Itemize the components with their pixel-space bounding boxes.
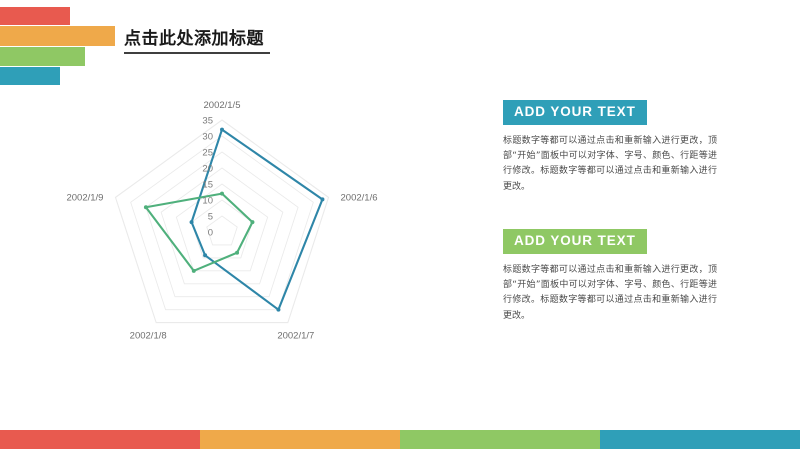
bottom-segment-orange: [200, 430, 400, 449]
svg-text:15: 15: [202, 180, 213, 191]
bottom-decoration: [0, 430, 800, 449]
panel-1-header: ADD YOUR TEXT: [503, 100, 647, 125]
bottom-segment-green: [400, 430, 600, 449]
svg-text:0: 0: [208, 228, 213, 239]
svg-text:20: 20: [202, 164, 213, 175]
text-panel-1: ADD YOUR TEXT 标题数字等都可以通过点击和重新输入进行更改，顶部“开…: [503, 100, 733, 195]
text-panel-2: ADD YOUR TEXT 标题数字等都可以通过点击和重新输入进行更改，顶部“开…: [503, 229, 733, 324]
radar-chart-svg: 05101520253035 2002/1/52002/1/62002/1/72…: [40, 100, 440, 370]
svg-text:2002/1/9: 2002/1/9: [66, 192, 103, 203]
decor-bar-green: [0, 47, 85, 66]
panel-2-body: 标题数字等都可以通过点击和重新输入进行更改，顶部“开始”面板中可以对字体、字号、…: [503, 263, 717, 325]
radar-grid: [115, 120, 328, 323]
radar-tick-labels: 05101520253035: [202, 116, 213, 239]
radar-chart: 05101520253035 2002/1/52002/1/62002/1/72…: [40, 100, 440, 370]
svg-text:2002/1/7: 2002/1/7: [277, 331, 314, 342]
svg-text:2002/1/6: 2002/1/6: [341, 192, 378, 203]
svg-text:2002/1/5: 2002/1/5: [204, 100, 241, 111]
svg-text:10: 10: [202, 196, 213, 207]
title-underline: [124, 52, 270, 54]
decor-bar-teal: [0, 67, 60, 85]
decor-bar-orange: [0, 26, 115, 46]
page-title: 点击此处添加标题: [124, 24, 264, 49]
panel-1-body: 标题数字等都可以通过点击和重新输入进行更改，顶部“开始”面板中可以对字体、字号、…: [503, 134, 717, 196]
panel-2-header: ADD YOUR TEXT: [503, 229, 647, 254]
svg-text:5: 5: [208, 212, 213, 223]
svg-text:30: 30: [202, 132, 213, 143]
svg-text:35: 35: [202, 116, 213, 127]
svg-text:25: 25: [202, 148, 213, 159]
bottom-segment-red: [0, 430, 200, 449]
decor-bar-red: [0, 7, 70, 25]
bottom-segment-teal: [600, 430, 800, 449]
svg-text:2002/1/8: 2002/1/8: [130, 331, 167, 342]
